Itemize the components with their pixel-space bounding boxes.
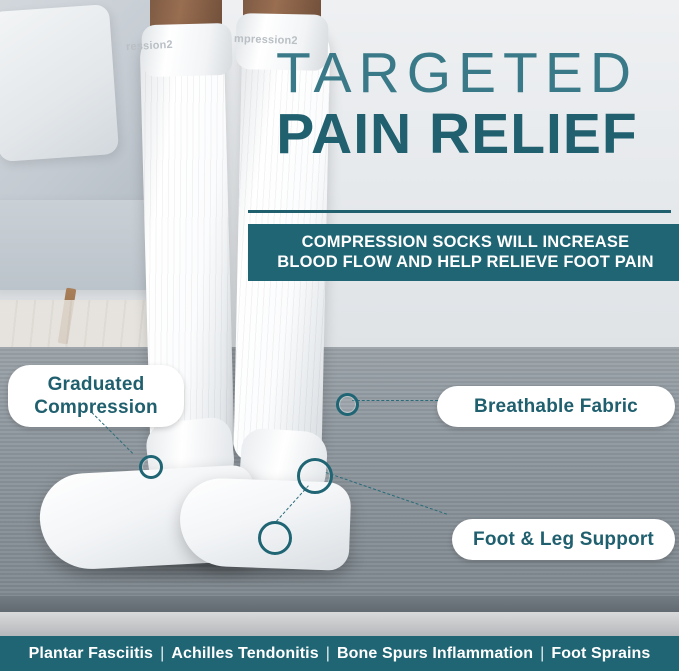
headline-line-2: PAIN RELIEF	[243, 104, 671, 164]
condition-plantar-fasciitis: Plantar Fasciitis	[29, 645, 153, 663]
condition-separator-3: |	[533, 645, 551, 663]
callout-breathable-fabric: Breathable Fabric	[437, 386, 675, 427]
condition-separator-1: |	[153, 645, 171, 663]
callout-foot-leg-support-label: Foot & Leg Support	[458, 528, 669, 551]
marker-dot-foot-support	[258, 521, 292, 555]
marker-dot-ankle-support	[297, 458, 333, 494]
condition-achilles-tendonitis: Achilles Tendonitis	[171, 645, 318, 663]
conditions-bar: Plantar Fasciitis | Achilles Tendonitis …	[0, 636, 679, 671]
left-sock-brand-text: ression2	[126, 39, 173, 53]
headline-block: TARGETED PAIN RELIEF	[243, 44, 671, 164]
product-infographic: ression2 mpression2 TARGETED PAIN RELIEF…	[0, 0, 679, 671]
sofa-pillow	[0, 4, 119, 162]
condition-separator-2: |	[319, 645, 337, 663]
marker-dot-graduated-compression	[139, 455, 163, 479]
condition-bone-spurs-inflammation: Bone Spurs Inflammation	[337, 645, 533, 663]
condition-foot-sprains: Foot Sprains	[551, 645, 650, 663]
headline-divider	[248, 210, 671, 213]
marker-dot-breathable-fabric	[336, 393, 359, 416]
leader-line-breathable	[352, 400, 438, 401]
subheadline-banner: COMPRESSION SOCKS WILL INCREASE BLOOD FL…	[248, 224, 679, 281]
callout-graduated-compression-line-1: Graduated	[14, 373, 178, 396]
subheadline-line-1: COMPRESSION SOCKS WILL INCREASE	[254, 232, 677, 252]
callout-breathable-fabric-label: Breathable Fabric	[443, 395, 669, 418]
callout-foot-leg-support: Foot & Leg Support	[452, 519, 675, 560]
headline-line-1: TARGETED	[243, 44, 671, 102]
subheadline-line-2: BLOOD FLOW AND HELP RELIEVE FOOT PAIN	[254, 252, 677, 272]
